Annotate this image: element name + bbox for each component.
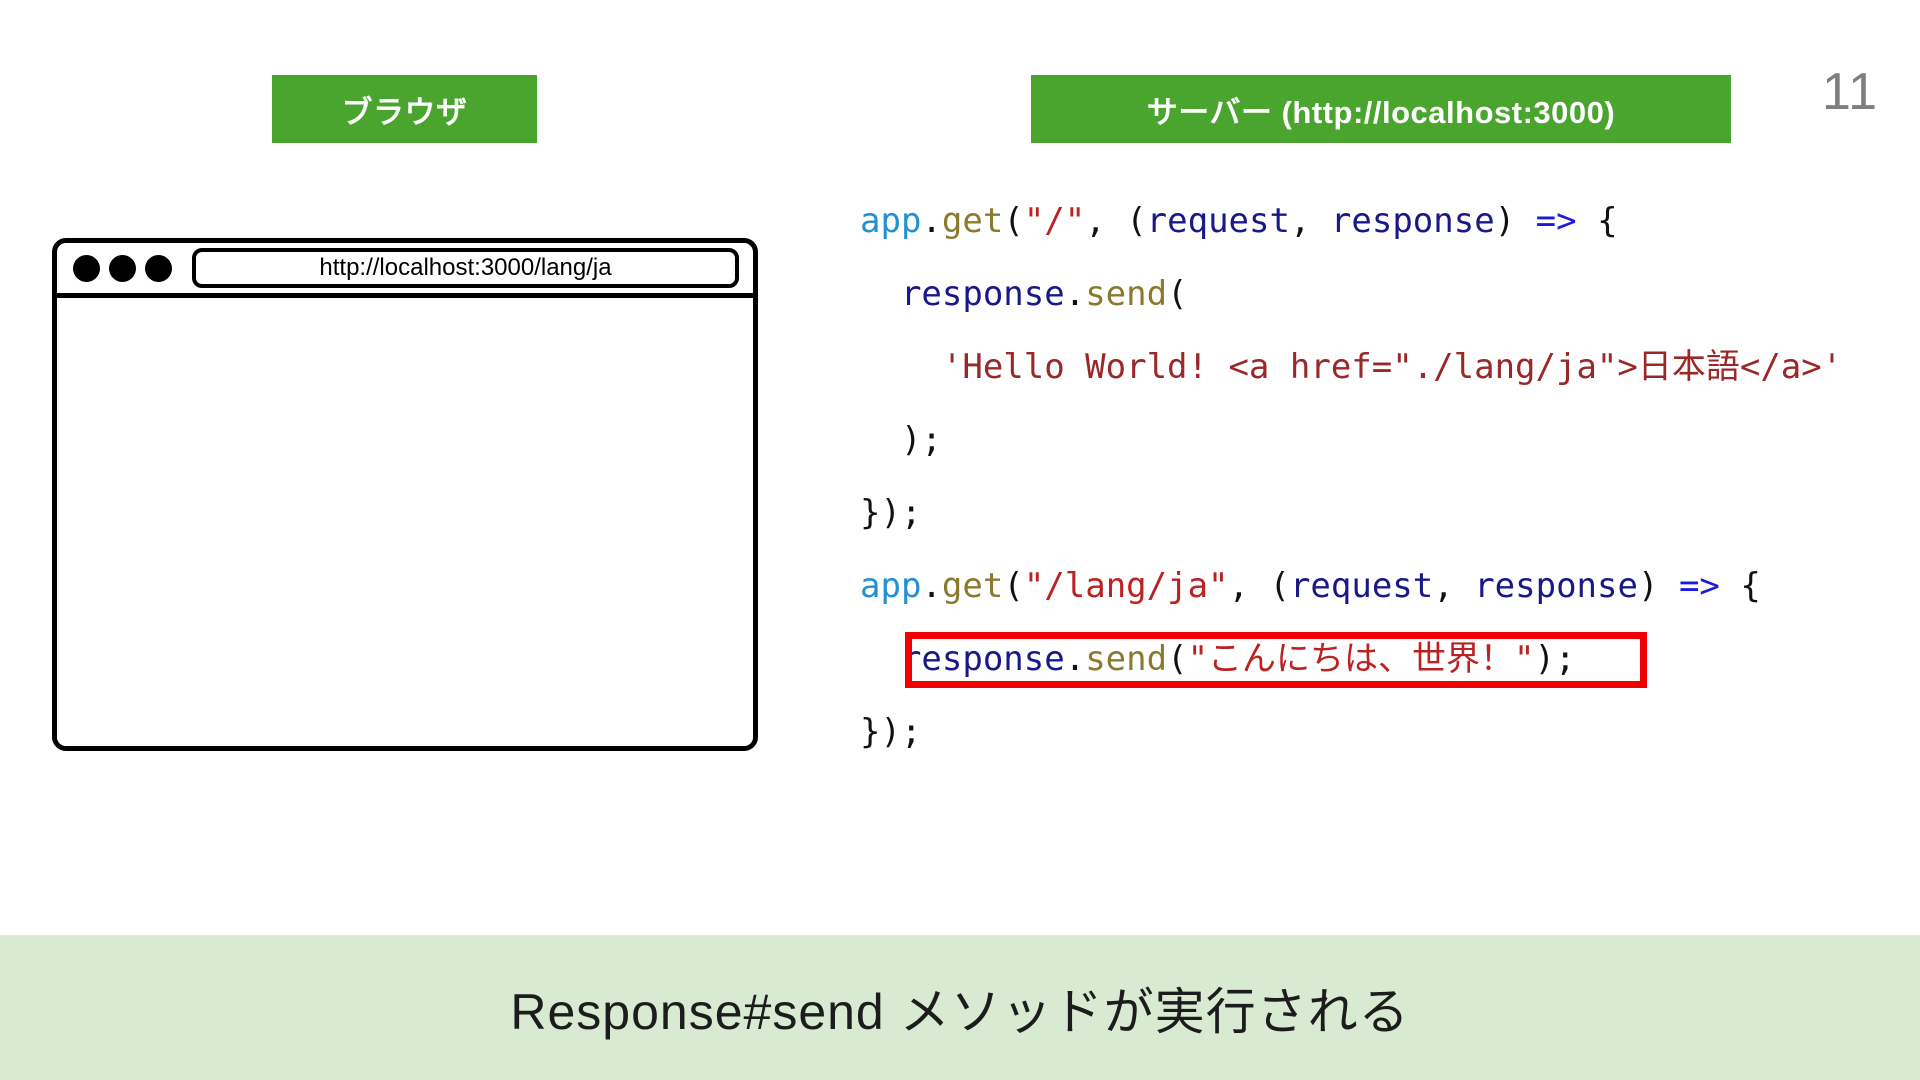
code-line: app.get("/lang/ja", (request, response) … bbox=[860, 550, 1842, 623]
code-token-punct: ( bbox=[1003, 566, 1023, 606]
code-token-punct: ( bbox=[1126, 201, 1146, 241]
code-token-punct: ) bbox=[1638, 566, 1658, 606]
window-dot-1-icon[interactable] bbox=[73, 255, 100, 282]
window-dot-3-icon[interactable] bbox=[145, 255, 172, 282]
code-token-obj: app bbox=[860, 566, 921, 606]
code-token-str: "/" bbox=[1024, 201, 1085, 241]
code-line: }); bbox=[860, 477, 1842, 550]
code-token-punct: { bbox=[1720, 566, 1761, 606]
code-token-punct: { bbox=[1577, 201, 1618, 241]
code-token-str: "/lang/ja" bbox=[1024, 566, 1229, 606]
code-token-meth: get bbox=[942, 201, 1003, 241]
code-token-punct: . bbox=[1065, 274, 1085, 314]
code-token-punct: , bbox=[1229, 566, 1270, 606]
code-token-punct: ); bbox=[901, 420, 942, 460]
code-token-obj: app bbox=[860, 201, 921, 241]
code-token-punct bbox=[1515, 201, 1535, 241]
code-token-meth: get bbox=[942, 566, 1003, 606]
code-token-param: response bbox=[901, 639, 1065, 679]
code-token-str2: 'Hello World! <a href="./lang/ja">日本語</a… bbox=[942, 347, 1842, 387]
code-indent bbox=[860, 347, 942, 387]
browser-titlebar: http://localhost:3000/lang/ja bbox=[57, 243, 753, 298]
code-indent bbox=[860, 274, 901, 314]
code-line: app.get("/", (request, response) => { bbox=[860, 185, 1842, 258]
window-dot-2-icon[interactable] bbox=[109, 255, 136, 282]
code-token-punct: ) bbox=[1495, 201, 1515, 241]
code-indent bbox=[860, 420, 901, 460]
footer-caption-band: Response#send メソッドが実行される bbox=[0, 935, 1920, 1080]
code-line: response.send( bbox=[860, 258, 1842, 331]
code-indent bbox=[860, 639, 901, 679]
code-line-highlighted: response.send("こんにちは、世界！"); bbox=[860, 623, 1842, 696]
code-token-param: request bbox=[1147, 201, 1290, 241]
code-token-punct: ( bbox=[1269, 566, 1289, 606]
browser-column-header: ブラウザ bbox=[272, 75, 537, 143]
code-token-punct: . bbox=[1065, 639, 1085, 679]
code-token-param: response bbox=[1474, 566, 1638, 606]
page-number: 11 bbox=[1822, 62, 1878, 122]
code-token-arrow: => bbox=[1679, 566, 1720, 606]
code-token-param: response bbox=[1331, 201, 1495, 241]
code-token-punct: }); bbox=[860, 493, 921, 533]
code-token-punct: , bbox=[1085, 201, 1126, 241]
code-token-punct: ( bbox=[1003, 201, 1023, 241]
browser-page-viewport bbox=[57, 298, 753, 746]
code-token-punct: . bbox=[921, 201, 941, 241]
code-token-punct: }); bbox=[860, 712, 921, 752]
code-token-meth: send bbox=[1085, 639, 1167, 679]
code-token-punct bbox=[1658, 566, 1678, 606]
server-column-header: サーバー (http://localhost:3000) bbox=[1031, 75, 1731, 143]
code-token-meth: send bbox=[1085, 274, 1167, 314]
code-token-punct: ( bbox=[1167, 274, 1187, 314]
footer-caption-text: Response#send メソッドが実行される bbox=[510, 972, 1409, 1044]
code-token-punct: ( bbox=[1167, 639, 1187, 679]
browser-column-header-label: ブラウザ bbox=[342, 87, 468, 132]
code-line: }); bbox=[860, 696, 1842, 769]
code-token-param: request bbox=[1290, 566, 1433, 606]
address-bar-url-text: http://localhost:3000/lang/ja bbox=[319, 254, 611, 282]
code-token-punct: , bbox=[1433, 566, 1474, 606]
code-token-str: "こんにちは、世界！" bbox=[1188, 639, 1535, 679]
slide-canvas: ブラウザ サーバー (http://localhost:3000) 11 htt… bbox=[0, 0, 1920, 1080]
browser-mockup-window: http://localhost:3000/lang/ja bbox=[52, 238, 758, 751]
code-token-param: response bbox=[901, 274, 1065, 314]
code-line: ); bbox=[860, 404, 1842, 477]
address-bar[interactable]: http://localhost:3000/lang/ja bbox=[192, 248, 739, 288]
code-token-punct: , bbox=[1290, 201, 1331, 241]
code-token-arrow: => bbox=[1536, 201, 1577, 241]
code-token-punct: ); bbox=[1535, 639, 1576, 679]
code-token-punct: . bbox=[921, 566, 941, 606]
server-code-snippet: app.get("/", (request, response) => { re… bbox=[860, 185, 1842, 769]
code-line: 'Hello World! <a href="./lang/ja">日本語</a… bbox=[860, 331, 1842, 404]
server-column-header-label: サーバー (http://localhost:3000) bbox=[1147, 87, 1615, 132]
